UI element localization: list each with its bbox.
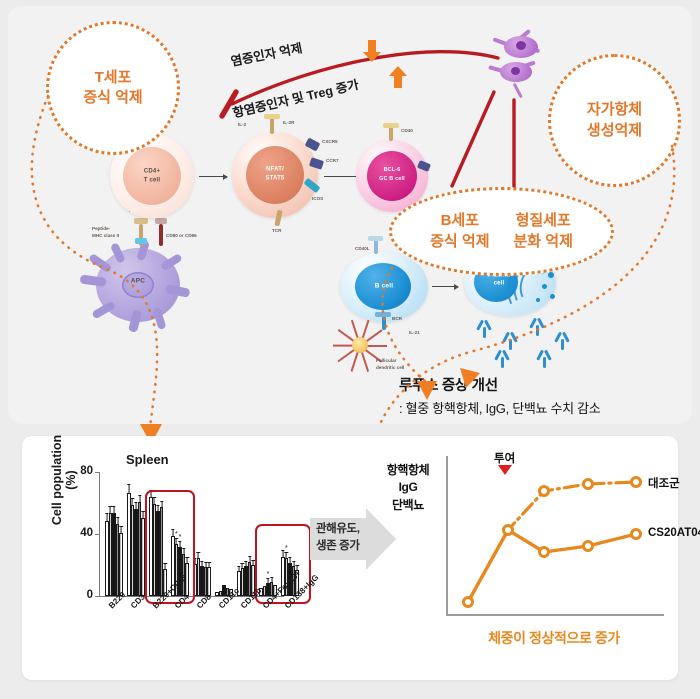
line-ylabel-1: 항핵항체 (387, 463, 430, 477)
receptor-cd40l-head (368, 236, 383, 241)
bar-chart: Cell population (%) Spleen 80 40 0 (54, 452, 304, 652)
receptor-mhc (135, 238, 147, 244)
receptor-label-il21: IL-21 (409, 330, 420, 335)
antibody-icon (527, 316, 547, 336)
data-point (538, 546, 550, 558)
antibody-icon (492, 348, 512, 368)
receptor-bcr-head (375, 312, 391, 317)
receptor-label-cd40l: CD40L (355, 246, 370, 251)
receptor-label-cxcr5: CXCR5 (322, 139, 338, 144)
callout-tcell-line2: 증식 억제 (83, 89, 142, 106)
data-point (502, 524, 514, 536)
receptor-label-tfh-tcr: TCR (272, 228, 281, 233)
data-point (630, 528, 642, 540)
cell-label-apc: APC (96, 277, 180, 284)
callout-bcell-line2: 증식 억제 (430, 232, 489, 252)
bar-ytick-80: 80 (67, 465, 93, 477)
cell-label-plasma2: cell (442, 281, 556, 288)
receptor-cd28 (155, 218, 167, 224)
cell-label-cd4-t2: T cell (110, 178, 194, 185)
arrow-t-to-tfh (199, 176, 227, 177)
data-point (630, 476, 642, 488)
receptor-tcr-head (134, 218, 148, 224)
data-point (582, 540, 594, 552)
receptor-label-cd80: CD80 or CD86 (166, 233, 197, 238)
bar-ytick-0: 0 (67, 589, 93, 601)
cell-apc: APC (96, 248, 180, 322)
data-panel: Cell population (%) Spleen 80 40 0 (22, 436, 678, 680)
receptor-label-icos: ICOS (312, 196, 323, 201)
bar-group-b220 (105, 513, 123, 596)
result-caption: 루푸스 증상 개선 : 혈중 항핵항체, IgG, 단백뇨 수치 감소 (399, 374, 600, 417)
cell-dendritic-purple (488, 30, 548, 102)
callout-autoantibody-line1: 자가항체 (587, 101, 642, 118)
bar-group-cd3 (127, 493, 145, 596)
receptor-label-cd40: CD40 (401, 128, 413, 133)
transition-arrow-text: 관해유도, 생존 증가 (316, 521, 360, 554)
cell-label-gcb2: GC B cell (356, 176, 428, 182)
infographic-root: APC TCR CD28 Peptide- MHC class II CD80 … (0, 0, 700, 699)
receptor-cd40-head (383, 123, 399, 128)
cell-label-fdc1: Follicular (376, 358, 396, 363)
data-point (538, 485, 550, 497)
callout-bcell-line1: B세포 (430, 211, 489, 231)
bar-chart-ylabel: Cell population (%) (50, 425, 78, 535)
line-chart: 항핵항체 IgG 단백뇨 투여 (374, 448, 670, 660)
callout-tcell-suppression: T세포 증식 억제 (46, 21, 180, 155)
cell-label-cd4-t1: CD4+ (110, 169, 194, 176)
callout-tcell-line1: T세포 (95, 69, 132, 86)
receptor-label-ccr7: CCR7 (326, 158, 339, 163)
receptor-cd80 (159, 224, 163, 246)
bar-chart-title: Spleen (126, 452, 169, 467)
bar-ytick-40: 40 (67, 527, 93, 539)
cell-label-fdc2: dendritic cell (376, 365, 404, 370)
callout-autoantibody-suppression: 자가항체 생성억제 (548, 54, 681, 187)
line-chart-caption: 체중이 정상적으로 증가 (438, 628, 670, 648)
antibody-icon (474, 318, 494, 338)
legend-control: 대조군 (648, 475, 680, 491)
transition-line2: 생존 증가 (316, 540, 360, 552)
result-headline: 루푸스 증상 개선 (399, 374, 600, 395)
bar-chart-plot: 80 40 0 (99, 472, 284, 597)
antibody-icon (500, 330, 520, 350)
transition-line1: 관해유도, (316, 523, 360, 535)
line-ylabel-2: IgG (399, 480, 418, 494)
receptor-label-il2r: IL-2R (283, 120, 294, 125)
callout-plasma-line2: 분화 억제 (514, 232, 573, 252)
result-detail: : 혈중 항핵항체, IgG, 단백뇨 수치 감소 (399, 398, 600, 417)
legend-treatment: CS20AT04 (648, 527, 700, 539)
receptor-label-peptide1: Peptide- (92, 226, 110, 231)
receptor-il2r-head (264, 114, 280, 119)
cell-label-tfh1: NFAT/ (232, 167, 318, 174)
receptor-cd40-stem (389, 127, 393, 141)
line-chart-ylabel: 항핵항체 IgG 단백뇨 (374, 462, 442, 514)
receptor-label-il2: IL-2 (238, 122, 246, 127)
callout-bcell-plasma-suppression: B세포 증식 억제 형질세포 분화 억제 (389, 187, 614, 276)
bar-group-cd8 (193, 558, 211, 596)
line-ylabel-3: 단백뇨 (392, 498, 424, 512)
cell-label-b: B cell (340, 282, 428, 289)
data-point (462, 596, 474, 608)
receptor-il2r-stem (270, 118, 274, 134)
data-point (582, 478, 594, 490)
receptor-cd40l-stem (374, 240, 378, 254)
receptor-label-peptide2: MHC class II (92, 233, 119, 238)
antibody-icon (534, 348, 554, 368)
receptor-label-bcr: BCR (392, 316, 402, 321)
mechanism-panel: APC TCR CD28 Peptide- MHC class II CD80 … (0, 0, 700, 430)
callout-plasma-line1: 형질세포 (514, 211, 573, 231)
antibody-icon (552, 330, 572, 350)
line-chart-plot: 투여 대조군 CS20AT04 (446, 456, 664, 616)
callout-autoantibody-line2: 생성억제 (587, 122, 642, 139)
